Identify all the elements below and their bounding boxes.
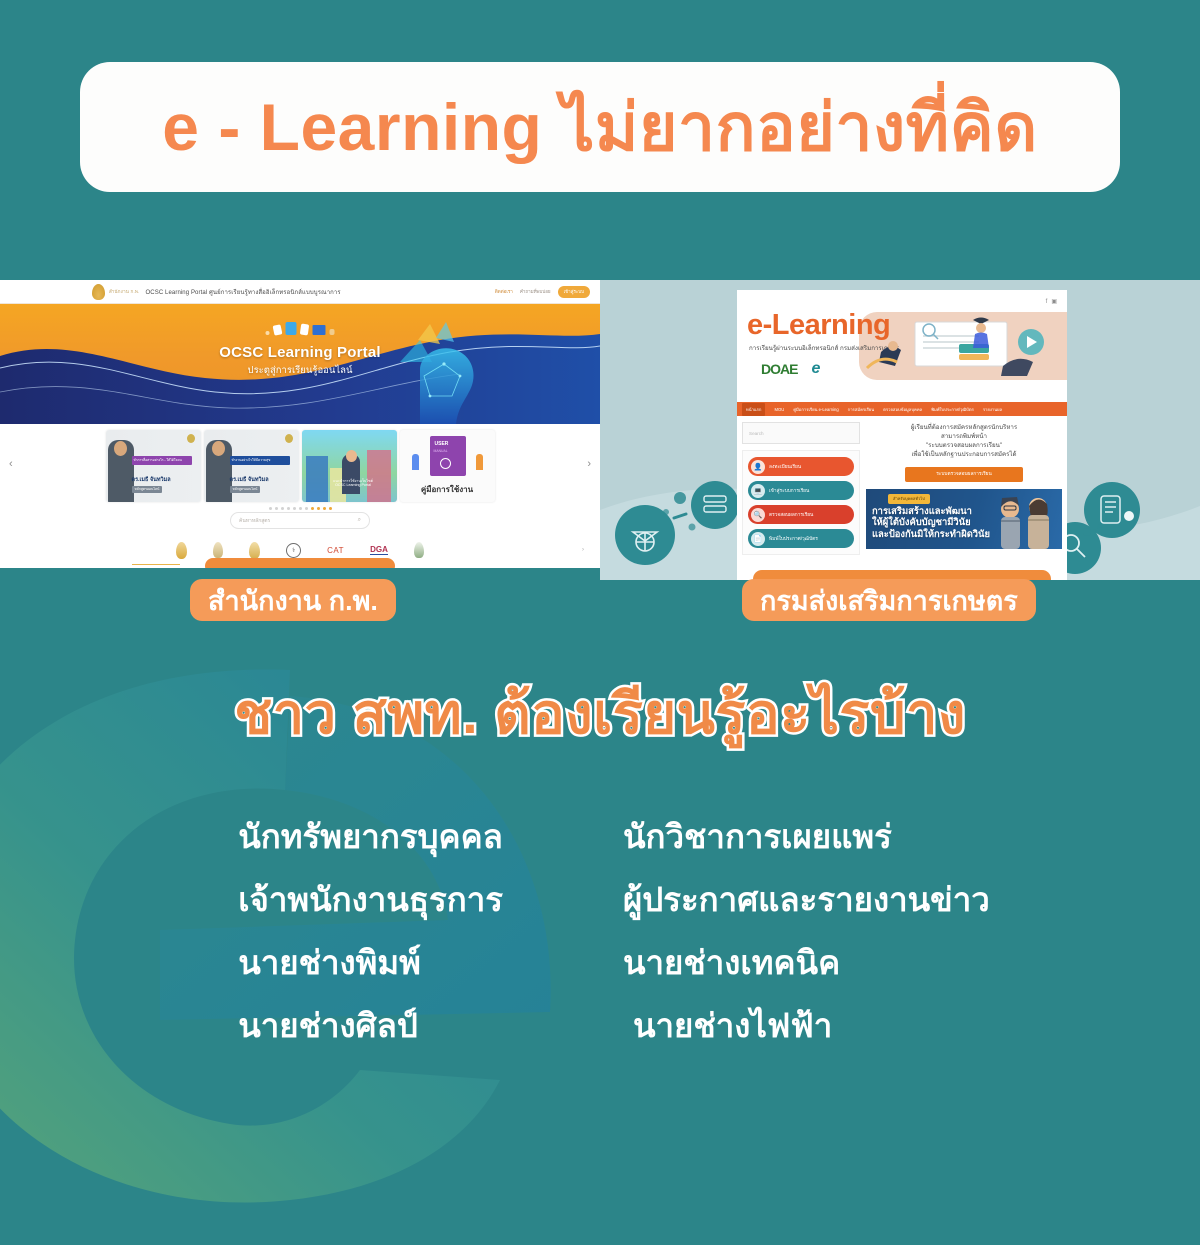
notice-line-2: สามารถพิมพ์หน้า [866, 433, 1062, 442]
ocsc-banner-title: OCSC Learning Portal [0, 344, 600, 361]
page-title: e - Learning ไม่ยากอย่างที่คิด [162, 94, 1037, 160]
promo-line-1: การเสริมสร้างและพัฒนา [872, 505, 990, 516]
doae-hero: e-Learning การเรียนรู้ผ่านระบบอิเล็กทรอน… [737, 290, 1067, 402]
caption-badge-doae: กรมส่งเสริมการเกษตร [742, 579, 1036, 621]
search-input-placeholder[interactable]: ค้นหาหลักสูตร [239, 517, 270, 525]
role-item: ผู้ประกาศและรายงานข่าว [623, 883, 990, 916]
carousel-cards: ทำการสื่อสารอย่างไร...ให้ได้ใจคน ดร.เมธี… [0, 430, 600, 502]
doae-hero-illustration [863, 314, 1063, 380]
role-item: นักทรัพยากรบุคคล [238, 820, 503, 853]
ocsc-banner-icons [266, 322, 335, 335]
user-icon: 👤 [751, 460, 765, 474]
notice-line-1: ผู้เรียนที่ต้องการสมัครหลักสูตรนักบริหาร [866, 424, 1062, 433]
doae-search-input[interactable]: Search [742, 422, 860, 444]
promo-tag: สำหรับบุคคลทั่วไป [888, 494, 930, 504]
promo-line-2: ให้ผู้ใต้บังคับบัญชามีวินัย [872, 516, 990, 527]
ocsc-banner-subtitle: ประตูสู่การเรียนรู้ออนไลน์ [0, 363, 600, 378]
certificate-icon: 📄 [751, 532, 765, 546]
role-item: นายช่างไฟฟ้า [633, 1009, 990, 1042]
doae-notice: ผู้เรียนที่ต้องการสมัครหลักสูตรนักบริหาร… [866, 424, 1062, 460]
ocsc-login-button[interactable]: เข้าสู่ระบบ [558, 286, 590, 298]
nav-item-report[interactable]: รายงานผล [983, 406, 1002, 413]
enter-learning-system-button[interactable]: 💻 เข้าสู่ระบบการเรียน [748, 481, 854, 500]
promo-text: การเสริมสร้างและพัฒนา ให้ผู้ใต้บังคับบัญ… [872, 505, 990, 539]
ocsc-header-title: OCSC Learning Portal ศูนย์การเรียนรู้ทาง… [146, 287, 341, 297]
nav-item-print-certificate[interactable]: พิมพ์ใบประกาศ/วุฒิบัตร [931, 406, 974, 413]
role-item: นายช่างเทคนิค [623, 946, 990, 979]
caption-badge-ocsc: สำนักงาน ก.พ. [190, 579, 396, 621]
role-item: เจ้าพนักงานธุรการ [238, 883, 503, 916]
nav-item-home[interactable]: หน้าแรก [742, 403, 765, 416]
doae-logo: DOAE [761, 361, 797, 377]
doae-main-column: ผู้เรียนที่ต้องการสมัครหลักสูตรนักบริหาร… [866, 422, 1062, 555]
check-results-label: ตรวจสอบผลการเรียน [769, 511, 813, 519]
screenshots-row: สำนักงาน ก.พ. OCSC Learning Portal ศูนย์… [0, 280, 1200, 580]
notice-check-results-label: ระบบตรวจสอบผลการเรียน [936, 470, 992, 478]
ocsc-logo-icon [92, 284, 105, 300]
roles-column-right: นักวิชาการเผยแพร่ ผู้ประกาศและรายงานข่าว… [623, 820, 990, 1042]
enter-learning-system-label: เข้าสู่ระบบการเรียน [769, 487, 809, 495]
ocsc-faq-link[interactable]: คำถามที่พบบ่อย [520, 288, 551, 295]
doae-search-placeholder[interactable]: Search [749, 431, 764, 436]
ocsc-carousel[interactable]: ‹ › ทำการสื่อสารอย่างไร...ให้ได้ใจคน ดร.… [0, 424, 600, 510]
print-certificate-label: พิมพ์ใบประกาศ/วุฒิบัตร [769, 535, 818, 543]
carousel-card[interactable]: ทำงานอย่างไรให้มีความสุข ดร.เมธี จันทวิม… [204, 430, 299, 502]
magnifier-icon: 🔍 [751, 508, 765, 522]
section-heading: ชาว สพท. ต้องเรียนรู้อะไรบ้าง [234, 683, 966, 745]
role-item: นายช่างพิมพ์ [238, 946, 503, 979]
role-item: นักวิชาการเผยแพร่ [623, 820, 990, 853]
promo-line-3: และป้องกันมิให้กระทำผิดวินัย [872, 528, 990, 539]
register-course-button[interactable]: 👤 ลงทะเบียนเรียน [748, 457, 854, 476]
caption-label-doae: กรมส่งเสริมการเกษตร [760, 579, 1018, 622]
carousel-card-sub: หลักสูตรออนไลน์ [230, 486, 261, 493]
carousel-prev-icon[interactable]: ‹ [9, 458, 13, 470]
check-results-button[interactable]: 🔍 ตรวจสอบผลการเรียน [748, 505, 854, 524]
poster-title-card: e - Learning ไม่ยากอย่างที่คิด [80, 62, 1120, 192]
ocsc-portal-screenshot: สำนักงาน ก.พ. OCSC Learning Portal ศูนย์… [0, 280, 600, 568]
role-item: นายช่างศิลป์ [238, 1009, 503, 1042]
partner-logo-other[interactable] [414, 539, 424, 561]
laptop-icon: 💻 [751, 484, 765, 498]
search-icon[interactable]: ⌕ [358, 517, 361, 524]
partner-logo-ocsc[interactable] [176, 539, 187, 561]
partner-active-underline [132, 564, 180, 566]
ocsc-course-search[interactable]: ค้นหาหลักสูตร ⌕ [0, 512, 600, 529]
carousel-card-name: คู่มือการใช้งาน [400, 483, 495, 496]
nav-item-register[interactable]: การสมัครเรียน [848, 406, 875, 413]
ocsc-contact-link[interactable]: ติดต่อเรา [495, 288, 513, 295]
ocsc-header-right: ติดต่อเรา คำถามที่พบบ่อย เข้าสู่ระบบ [495, 286, 590, 298]
carousel-card[interactable]: ทำการสื่อสารอย่างไร...ให้ได้ใจคน ดร.เมธี… [106, 430, 201, 502]
ocsc-site-header: สำนักงาน ก.พ. OCSC Learning Portal ศูนย์… [0, 280, 600, 304]
doae-sidebar: Search 👤 ลงทะเบียนเรียน 💻 เข้าสู่ระบบการ… [742, 422, 860, 555]
nav-item-mou[interactable]: MOU [774, 407, 784, 412]
doae-promo-banner[interactable]: สำหรับบุคคลทั่วไป การเสริมสร้างและพัฒนา … [866, 489, 1062, 549]
section-heading-wrap: ชาว สพท. ต้องเรียนรู้อะไรบ้าง [0, 683, 1200, 745]
roles-column-left: นักทรัพยากรบุคคล เจ้าพนักงานธุรการ นายช่… [210, 820, 503, 1042]
carousel-card[interactable]: แนะนำการใช้งานเว็บไซต์OCSC Learning Port… [302, 430, 397, 502]
ocsc-bottom-cta-bar[interactable] [205, 558, 395, 568]
carousel-card[interactable]: USER MANUAL คู่มือการใช้งาน [400, 430, 495, 502]
ocsc-logo-label: สำนักงาน ก.พ. [109, 288, 140, 295]
doae-elearning-screenshot: f ▣ e-Learning การเรียนรู้ผ่านระบบอิเล็ก… [600, 280, 1200, 580]
carousel-card-name: ดร.เมธี จันทวิมล [230, 476, 269, 484]
carousel-card-sub: หลักสูตรออนไลน์ [132, 486, 163, 493]
notice-line-3: "ระบบตรวจสอบผลการเรียน" [866, 442, 1062, 451]
notice-line-4: เพื่อใช้เป็นหลักฐานประกอบการสมัครได้ [866, 451, 1062, 460]
elearning-e-logo: e [811, 360, 820, 378]
notice-check-results-button[interactable]: ระบบตรวจสอบผลการเรียน [905, 467, 1023, 482]
carousel-dots[interactable] [0, 507, 600, 510]
roles-list: นักทรัพยากรบุคคล เจ้าพนักงานธุรการ นายช่… [0, 820, 1200, 1042]
carousel-next-icon[interactable]: › [587, 458, 591, 470]
carousel-card-name: ดร.เมธี จันทวิมล [132, 476, 171, 484]
nav-item-guide[interactable]: คู่มือการเรียน e-Learning [793, 406, 838, 413]
nav-item-check-person[interactable]: ตรวจสอบข้อมูลบุคคล [883, 406, 922, 413]
doae-action-buttons: 👤 ลงทะเบียนเรียน 💻 เข้าสู่ระบบการเรียน 🔍… [742, 450, 860, 555]
doae-content: Search 👤 ลงทะเบียนเรียน 💻 เข้าสู่ระบบการ… [737, 416, 1067, 555]
ocsc-banner-text: OCSC Learning Portal ประตูสู่การเรียนรู้… [0, 344, 600, 378]
doae-page-body: f ▣ e-Learning การเรียนรู้ผ่านระบบอิเล็ก… [737, 290, 1067, 580]
doae-nav-bar[interactable]: หน้าแรก MOU คู่มือการเรียน e-Learning กา… [737, 402, 1067, 416]
print-certificate-button[interactable]: 📄 พิมพ์ใบประกาศ/วุฒิบัตร [748, 529, 854, 548]
promo-people-illustration [988, 493, 1060, 549]
ocsc-hero-banner: OCSC Learning Portal ประตูสู่การเรียนรู้… [0, 304, 600, 424]
partners-next-icon[interactable]: › [582, 547, 584, 553]
caption-label-ocsc: สำนักงาน ก.พ. [208, 579, 378, 622]
register-course-label: ลงทะเบียนเรียน [769, 463, 801, 471]
